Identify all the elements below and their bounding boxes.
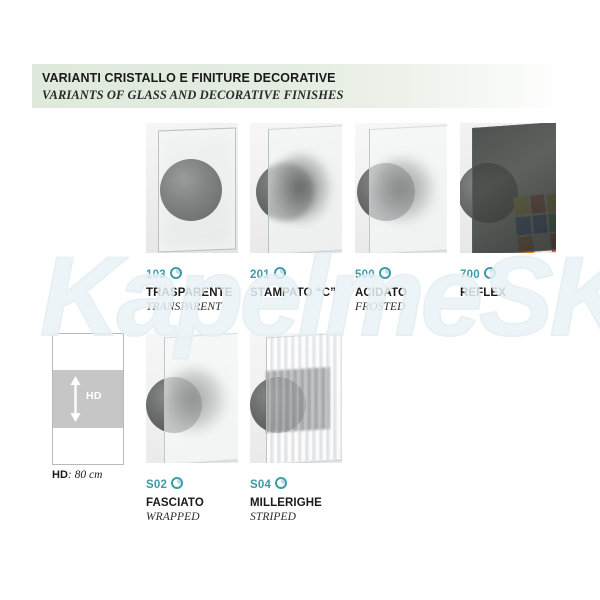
- circle-swatch-icon: [171, 476, 183, 494]
- sample-name-500: ACIDATO: [355, 287, 447, 299]
- page-subtitle: VARIANTS OF GLASS AND DECORATIVE FINISHE…: [42, 88, 344, 103]
- sample-name-en-500: FROSTED: [355, 301, 447, 313]
- sample-card-201[interactable]: 201 STAMPATO “C”: [250, 123, 342, 301]
- sample-card-S02[interactable]: S02 FASCIATO WRAPPED: [146, 333, 238, 523]
- sample-card-S04[interactable]: S04 MILLERIGHE STRIPED: [250, 333, 342, 523]
- sample-photo-transparent: [146, 123, 238, 253]
- sample-photo-patterned: [250, 123, 342, 253]
- sample-card-103[interactable]: 103 TRASPARENTE TRANSPARENT: [146, 123, 238, 313]
- circle-swatch-icon: [379, 266, 391, 284]
- circle-swatch-icon: [275, 476, 287, 494]
- sample-name-en-103: TRANSPARENT: [146, 301, 238, 313]
- sample-code-700: 700: [460, 269, 480, 281]
- hd-diagram: HD: [52, 333, 124, 465]
- sample-code-103: 103: [146, 269, 166, 281]
- sample-name-en-S04: STRIPED: [250, 511, 342, 523]
- section-header-banner: VARIANTI CRISTALLO E FINITURE DECORATIVE…: [32, 64, 570, 108]
- sample-photo-reflex: [460, 123, 556, 253]
- sample-code-row-S04: S04: [250, 477, 342, 492]
- circle-swatch-icon: [484, 266, 496, 284]
- sample-name-S02: FASCIATO: [146, 497, 238, 509]
- sample-name-en-S02: WRAPPED: [146, 511, 238, 523]
- hd-caption: HD: 80 cm: [52, 469, 102, 481]
- sample-name-700: REFLEX: [460, 287, 556, 299]
- hd-caption-key: HD: [52, 469, 68, 481]
- sample-code-row-500: 500: [355, 267, 447, 282]
- hd-arrow-label: HD: [86, 390, 102, 402]
- sample-photo-striped: [250, 333, 342, 463]
- sample-name-S04: MILLERIGHE: [250, 497, 342, 509]
- sample-photo-wrapped: [146, 333, 238, 463]
- sample-card-500[interactable]: 500 ACIDATO FROSTED: [355, 123, 447, 313]
- sample-code-row-201: 201: [250, 267, 342, 282]
- sample-code-S02: S02: [146, 479, 167, 491]
- hd-caption-value: : 80 cm: [68, 469, 103, 481]
- page-title: VARIANTI CRISTALLO E FINITURE DECORATIVE: [42, 71, 336, 85]
- circle-swatch-icon: [274, 266, 286, 284]
- sample-code-row-700: 700: [460, 267, 556, 282]
- sample-card-700[interactable]: 700 REFLEX: [460, 123, 556, 301]
- sample-code-row-103: 103: [146, 267, 238, 282]
- sample-code-201: 201: [250, 269, 270, 281]
- sample-name-201: STAMPATO “C”: [250, 287, 342, 299]
- sample-name-103: TRASPARENTE: [146, 287, 238, 299]
- sample-code-row-S02: S02: [146, 477, 238, 492]
- sample-photo-frosted: [355, 123, 447, 253]
- sample-code-S04: S04: [250, 479, 271, 491]
- hd-double-arrow-icon: [69, 376, 82, 422]
- sample-code-500: 500: [355, 269, 375, 281]
- circle-swatch-icon: [170, 266, 182, 284]
